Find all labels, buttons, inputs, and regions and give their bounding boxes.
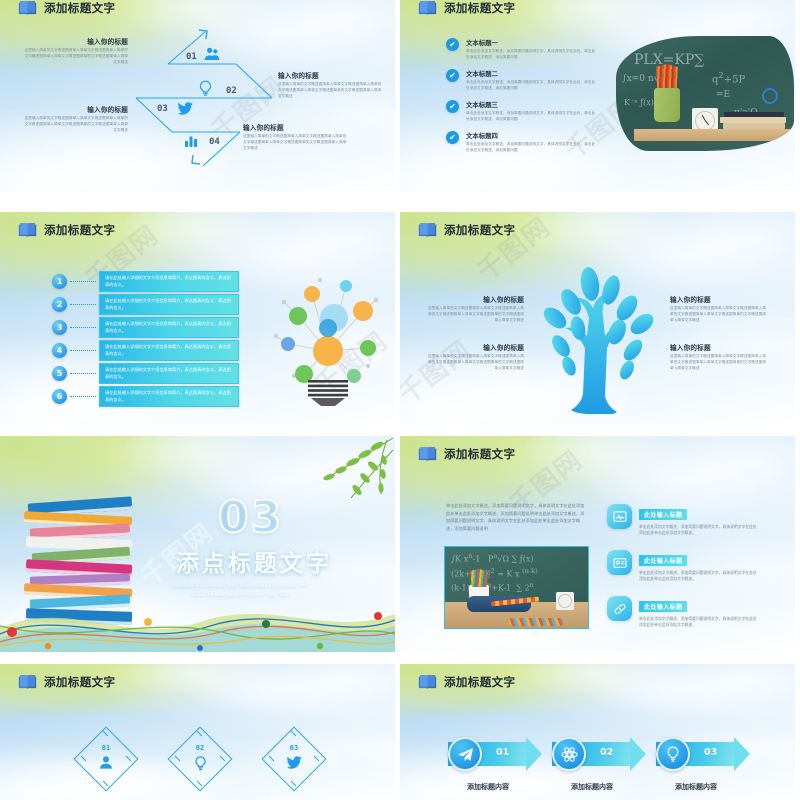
connector-dashes	[70, 304, 96, 305]
icon-list-body: 单击此处添加文字概述，添加简要问题说明文字，具体说明文字在此处添加此处单击此处添…	[639, 570, 757, 583]
id-card-icon	[607, 550, 632, 575]
ppt-template-preview: 千图网 添加标题文字	[0, 0, 800, 800]
bar-text: 请在此处输入详细的文字介绍信息和简介，表达图表的含义，表达图表的含义。	[99, 271, 239, 292]
colored-pencils	[470, 569, 488, 587]
checklist-item-title: 文本标题三	[466, 100, 598, 109]
bulb-icon	[177, 756, 223, 776]
tree-item-top-right[interactable]: 输入你的标题 这里输入简单的文字概述图简单入简单文字概述图简单入简单的文字概述图…	[670, 294, 768, 323]
chart-icon	[184, 134, 198, 148]
slide-header-title: 添加标题文字	[444, 0, 515, 16]
numbered-bar-1[interactable]: 1 请在此处输入详细的文字介绍信息和简介，表达图表的含义，表达图表的含义。	[52, 271, 239, 292]
icon-list-item-1[interactable]: 此处输入标题 单击此处添加文字概述，添加简要问题说明文字，具体说明文字在此处添加…	[607, 504, 757, 537]
zigzag-number-3: 03	[157, 104, 168, 114]
section-title: 添点标题文字	[176, 544, 332, 578]
diamond-number: 03	[271, 744, 317, 752]
open-book-icon	[18, 223, 37, 238]
arrow-label-1: 添加标题内容	[448, 782, 528, 792]
slide-header-title: 添加标题文字	[444, 222, 515, 238]
step-number: 4	[52, 343, 67, 358]
slide-thumb-photo-iconlist[interactable]: 千图网 添加标题文字 单击此处添加文字概述，添加简要问题说明文字，具体说明文字在…	[400, 436, 795, 652]
arrow-number: 01	[496, 747, 509, 758]
check-circle-icon: ✔	[446, 131, 459, 144]
icon-list-tag: 此处输入标题	[639, 555, 687, 566]
arrow-number: 03	[704, 747, 717, 758]
bar-text: 请在此处输入详细的文字介绍信息和简介，表达图表的含义，表达图表的含义。	[99, 294, 239, 315]
step-number: 2	[52, 297, 67, 312]
desk-clutter	[509, 618, 563, 626]
tree-item-title: 输入你的标题	[426, 294, 524, 304]
checklist-item-body: 单击此处添加文字概述，添加简要问题说明文字，具体说明文字在此处。单击此处添加文字…	[466, 111, 598, 123]
heartbeat-image-icon	[607, 504, 632, 529]
slide-thumb-diamonds[interactable]: 添加标题文字 01 02	[0, 664, 395, 800]
slide-header: 添加标题文字	[418, 446, 515, 462]
slide-thumb-zigzag[interactable]: 千图网 添加标题文字	[0, 0, 395, 192]
arrow-head	[526, 737, 542, 771]
icon-list-tag: 此处输入标题	[639, 509, 687, 520]
slide-thumb-tree[interactable]: 千图网 千图网 添加标题文字	[400, 212, 795, 424]
leaf-branch-decoration	[265, 436, 395, 512]
icon-list-item-2[interactable]: 此处输入标题 单击此处添加文字概述，添加简要问题说明文字，具体说明文字在此处添加…	[607, 550, 757, 583]
intro-paragraph: 单击此处添加文字概述，添加简要问题说明文字，具体说明文字在此处添加此处单击此处添…	[446, 502, 586, 532]
checklist-item-body: 单击此处添加文字概述，添加简要问题说明文字，具体说明文字在此处。单击此处添加文字…	[466, 142, 598, 154]
arrow-step-1[interactable]: 01	[448, 737, 542, 771]
arrow-badge	[656, 737, 690, 771]
diamond-item-3[interactable]: 03	[271, 736, 317, 782]
checklist-item-1[interactable]: ✔ 文本标题一 单击此处添加文字概述，添加简要问题说明文字，具体说明文字在此处。…	[446, 38, 598, 61]
slide-header-title: 添加标题文字	[44, 222, 115, 238]
checklist-item-3[interactable]: ✔ 文本标题三 单击此处添加文字概述，添加简要问题说明文字，具体说明文字在此处。…	[446, 100, 598, 123]
arrow-label-3: 添加标题内容	[656, 782, 736, 792]
tree-item-title: 输入你的标题	[426, 342, 524, 352]
zigzag-number-4: 04	[209, 137, 220, 147]
diamond-item-2[interactable]: 02	[177, 736, 223, 782]
ribbon-wave-decoration	[0, 588, 395, 652]
check-circle-icon: ✔	[446, 69, 459, 82]
numbered-bar-5[interactable]: 5 请在此处输入详细的文字介绍信息和简介，表达图表的含义，表达图表的含义。	[52, 363, 239, 384]
checklist-item-title: 文本标题一	[466, 38, 598, 47]
connector-dashes	[70, 396, 96, 397]
pencil-cup	[654, 88, 680, 122]
zigzag-item-title: 输入你的标题	[22, 36, 128, 46]
bar-text: 请在此处输入详细的文字介绍信息和简介，表达图表的含义，表达图表的含义。	[99, 363, 239, 384]
magnifier-ring	[762, 88, 778, 104]
slide-header: 添加标题文字	[18, 222, 115, 238]
zigzag-item-title: 输入你的标题	[278, 70, 384, 80]
slide-thumb-section-cover[interactable]: 千图网	[0, 436, 395, 652]
chalk-scribble-c: =E	[716, 90, 730, 100]
slide-thumb-checklist[interactable]: 千图网 添加标题文字 PLX=KP∑ ∫x=0 n√ q2+5P =E K⁻ⁿ …	[400, 0, 795, 192]
check-circle-icon: ✔	[446, 100, 459, 113]
desk-surface	[634, 129, 790, 141]
checklist-item-4[interactable]: ✔ 文本标题四 单击此处添加文字概述，添加简要问题说明文字，具体说明文字在此处。…	[446, 131, 598, 154]
slide-thumb-numbered-bars[interactable]: 千图网 千图网 添加标题文字 1 请在此处输入详细的文字介绍信息和简介，表达图表…	[0, 212, 395, 424]
slide-header-title: 添加标题文字	[444, 446, 515, 462]
open-book-icon	[418, 675, 437, 690]
tree-item-body: 这里输入简单的文字概述图简单入简单文字概述图简单入简单的文字概述图简单入简单文字…	[426, 306, 524, 323]
zigzag-item-1[interactable]: 输入你的标题 这里输入简单的文字概述图简单入简单文字概述图简单入简单的文字概述图…	[22, 36, 128, 65]
slide-header-title: 添加标题文字	[444, 674, 515, 690]
icon-list-item-3[interactable]: 此处输入标题 单击此处添加文字概述，添加简要问题说明文字，具体说明文字在此处添加…	[607, 596, 757, 629]
slide-header-title: 添加标题文字	[44, 674, 115, 690]
section-number: 03	[218, 492, 283, 543]
bulb-icon	[198, 80, 213, 97]
checklist-item-body: 单击此处添加文字概述，添加简要问题说明文字，具体说明文字在此处。单击此处添加文字…	[466, 80, 598, 92]
checklist-item-title: 文本标题四	[466, 131, 598, 140]
atom-icon	[561, 746, 578, 763]
zigzag-diagram: 输入你的标题 这里输入简单的文字概述图简单入简单文字概述图简单入简单的文字概述图…	[0, 0, 395, 192]
pencil-case-chalkboard-photo: ∫K xn-1 Pa√Ω ∑ ƒ(x)(2k+1)/K|2 = K x (n-k…	[444, 546, 589, 629]
arrow-step-3[interactable]: 03	[656, 737, 750, 771]
step-number: 5	[52, 366, 67, 381]
numbered-bar-3[interactable]: 3 请在此处输入详细的文字介绍信息和简介，表达图表的含义，表达图表的含义。	[52, 317, 239, 338]
diamond-number: 01	[83, 744, 129, 752]
connector-dashes	[70, 327, 96, 328]
arrow-head	[630, 737, 646, 771]
chalk-scribble-b: q2+5P	[712, 70, 745, 85]
chalk-scribble-a: ∫x=0 n√	[622, 74, 659, 84]
tree-item-body: 这里输入简单的文字概述图简单入简单文字概述图简单入简单的文字概述图简单入简单文字…	[670, 354, 768, 371]
numbered-bar-2[interactable]: 2 请在此处输入详细的文字介绍信息和简介，表达图表的含义，表达图表的含义。	[52, 294, 239, 315]
connector-dashes	[70, 281, 96, 282]
network-bulb-icon	[268, 256, 388, 406]
zigzag-item-title: 输入你的标题	[243, 122, 349, 132]
arrow-badge	[552, 737, 586, 771]
connector-dashes	[70, 373, 96, 374]
icon-list-tag: 此处输入标题	[639, 601, 687, 612]
slide-header: 添加标题文字	[18, 674, 115, 690]
arrow-number: 02	[600, 747, 613, 758]
bird-icon	[271, 756, 317, 774]
bar-text: 请在此处输入详细的文字介绍信息和简介，表达图表的含义，表达图表的含义。	[99, 340, 239, 361]
tree-item-title: 输入你的标题	[670, 294, 768, 304]
open-book-icon	[18, 675, 37, 690]
checklist-item-body: 单击此处添加文字概述，添加简要问题说明文字，具体说明文字在此处。单击此处添加文字…	[466, 49, 598, 61]
slide-header: 添加标题文字	[418, 674, 515, 690]
blue-tree-icon	[533, 266, 663, 414]
zigzag-item-title: 输入你的标题	[22, 104, 128, 114]
tree-item-body: 这里输入简单的文字概述图简单入简单文字概述图简单入简单的文字概述图简单入简单文字…	[670, 306, 768, 323]
zigzag-item-2[interactable]: 输入你的标题 这里输入简单的文字概述图简单入简单文字概述图简单入简单的文字概述图…	[278, 70, 384, 99]
step-number: 1	[52, 274, 67, 289]
tree-item-bottom-left[interactable]: 输入你的标题 这里输入简单的文字概述图简单入简单文字概述图简单入简单的文字概述图…	[426, 342, 524, 371]
numbered-bar-6[interactable]: 6 请在此处输入详细的文字介绍信息和简介，表达图表的含义，表达图表的含义。	[52, 386, 239, 407]
slide-thumb-arrows[interactable]: 添加标题文字 01 添加标题内容	[400, 664, 795, 800]
chalkboard-pencils-clock-photo: PLX=KP∑ ∫x=0 n√ q2+5P =E K⁻ⁿ ƒ(x) π'a'Ω	[616, 36, 794, 151]
paper-plane-icon	[457, 747, 474, 762]
icon-list-body: 单击此处添加文字概述，添加简要问题说明文字，具体说明文字在此处添加此处单击此处添…	[639, 616, 757, 629]
zigzag-item-body: 这里输入简单的文字概述图简单入简单文字概述图简单入简单的文字概述图简单入简单文字…	[278, 82, 384, 99]
step-number: 6	[52, 389, 67, 404]
tree-item-title: 输入你的标题	[670, 342, 768, 352]
arrow-head	[734, 737, 750, 771]
check-circle-icon: ✔	[446, 38, 459, 51]
arrow-label-2: 添加标题内容	[552, 782, 632, 792]
arrow-badge	[448, 737, 482, 771]
arrow-step-2[interactable]: 02	[552, 737, 646, 771]
users-icon	[204, 47, 220, 61]
zigzag-number-1: 01	[186, 52, 197, 62]
tree-item-body: 这里输入简单的文字概述图简单入简单文字概述图简单入简单的文字概述图简单入简单文字…	[426, 354, 524, 371]
bird-icon	[177, 102, 193, 115]
numbered-bar-4[interactable]: 4 请在此处输入详细的文字介绍信息和简介，表达图表的含义，表达图表的含义。	[52, 340, 239, 361]
zigzag-item-3[interactable]: 输入你的标题 这里输入简单的文字概述图简单入简单文字概述图简单入简单的文字概述图…	[22, 104, 128, 133]
zigzag-number-2: 02	[226, 86, 237, 96]
diamond-number: 02	[177, 744, 223, 752]
zigzag-item-body: 这里输入简单的文字概述图简单入简单文字概述图简单入简单的文字概述图简单入简单文字…	[22, 116, 128, 133]
open-book-icon	[418, 1, 437, 16]
chalk-scribble-d: K⁻ⁿ ƒ(x)	[624, 98, 654, 107]
slide-header: 添加标题文字	[418, 0, 515, 16]
checklist-item-2[interactable]: ✔ 文本标题二 单击此处添加文字概述，添加简要问题说明文字，具体说明文字在此处。…	[446, 69, 598, 92]
bandage-icon	[607, 596, 632, 621]
open-book-icon	[418, 223, 437, 238]
bar-text: 请在此处输入详细的文字介绍信息和简介，表达图表的含义，表达图表的含义。	[99, 386, 239, 407]
step-number: 3	[52, 320, 67, 335]
open-book-icon	[418, 447, 437, 462]
alarm-clock-small	[556, 592, 574, 610]
icon-list-body: 单击此处添加文字概述，添加简要问题说明文字，具体说明文字在此处添加此处单击此处添…	[639, 524, 757, 537]
bar-text: 请在此处输入详细的文字介绍信息和简介，表达图表的含义，表达图表的含义。	[99, 317, 239, 338]
bulb-icon	[666, 746, 680, 763]
zigzag-item-4[interactable]: 输入你的标题 这里输入简单的文字概述图简单入简单文字概述图简单入简单的文字概述图…	[243, 122, 349, 151]
tree-item-top-left[interactable]: 输入你的标题 这里输入简单的文字概述图简单入简单文字概述图简单入简单的文字概述图…	[426, 294, 524, 323]
diamond-item-1[interactable]: 01	[83, 736, 129, 782]
zigzag-item-body: 这里输入简单的文字概述图简单入简单文字概述图简单入简单的文字概述图简单入简单文字…	[22, 48, 128, 65]
user-icon	[83, 756, 129, 774]
checklist-item-title: 文本标题二	[466, 69, 598, 78]
connector-dashes	[70, 350, 96, 351]
tree-item-bottom-right[interactable]: 输入你的标题 这里输入简单的文字概述图简单入简单文字概述图简单入简单的文字概述图…	[670, 342, 768, 371]
zigzag-item-body: 这里输入简单的文字概述图简单入简单文字概述图简单入简单的文字概述图简单入简单文字…	[243, 134, 349, 151]
slide-header: 添加标题文字	[418, 222, 515, 238]
